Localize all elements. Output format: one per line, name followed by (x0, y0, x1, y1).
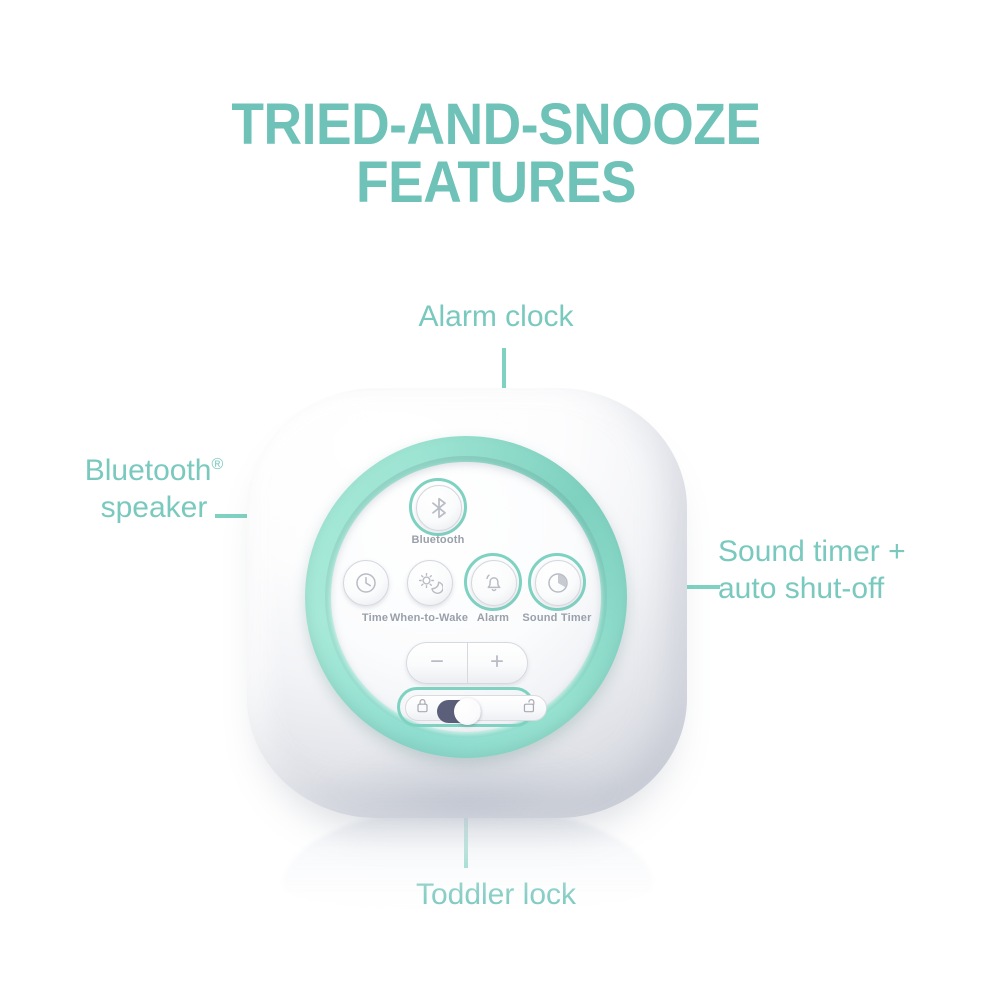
minus-icon (427, 651, 447, 676)
callout-sound-line-2: auto shut-off (718, 570, 906, 607)
padlock-open-icon (522, 697, 537, 719)
title-line-2: FEATURES (40, 154, 953, 212)
alarm-button[interactable] (471, 560, 517, 606)
plus-icon (487, 651, 507, 676)
clock-icon (354, 571, 378, 595)
volume-down-button[interactable] (407, 643, 467, 683)
registered-trademark-icon: ® (211, 456, 223, 473)
toddler-lock-slider[interactable] (405, 695, 547, 721)
timer-clock-icon (546, 571, 570, 595)
bluetooth-icon (429, 496, 449, 520)
poster-canvas: TRIED-AND-SNOOZE FEATURES Alarm clock Bl… (0, 0, 992, 992)
device-reflection (282, 806, 654, 910)
title-line-1: TRIED-AND-SNOOZE (231, 92, 760, 157)
callout-label-sound-timer: Sound timer + auto shut-off (718, 533, 906, 607)
callout-bluetooth-word: Bluetooth (85, 454, 212, 487)
time-button[interactable] (343, 560, 389, 606)
device-control-face: Bluetooth Time (331, 462, 601, 732)
when-to-wake-button[interactable] (407, 560, 453, 606)
volume-rocker[interactable] (406, 642, 528, 684)
callout-bluetooth-line-2: speaker (44, 489, 264, 526)
sound-timer-button[interactable] (535, 560, 581, 606)
bell-icon (482, 571, 506, 595)
device-mint-ring: Bluetooth Time (305, 436, 627, 758)
volume-up-button[interactable] (468, 643, 528, 683)
padlock-closed-icon (415, 697, 430, 719)
sun-moon-icon (417, 571, 443, 595)
callout-label-alarm-clock: Alarm clock (0, 298, 992, 335)
callout-alarm-text: Alarm clock (418, 300, 573, 333)
callout-bluetooth-line-1: Bluetooth® (44, 452, 264, 489)
sound-machine-device: Bluetooth Time (247, 388, 687, 818)
callout-label-bluetooth-speaker: Bluetooth® speaker (44, 452, 264, 526)
bluetooth-button-label: Bluetooth (388, 534, 488, 546)
bluetooth-button[interactable] (416, 485, 462, 531)
callout-sound-line-1: Sound timer + (718, 533, 906, 570)
lock-toggle-knob[interactable] (454, 698, 481, 725)
sound-timer-button-label: Sound Timer (501, 612, 613, 624)
page-title: TRIED-AND-SNOOZE FEATURES (40, 96, 953, 212)
